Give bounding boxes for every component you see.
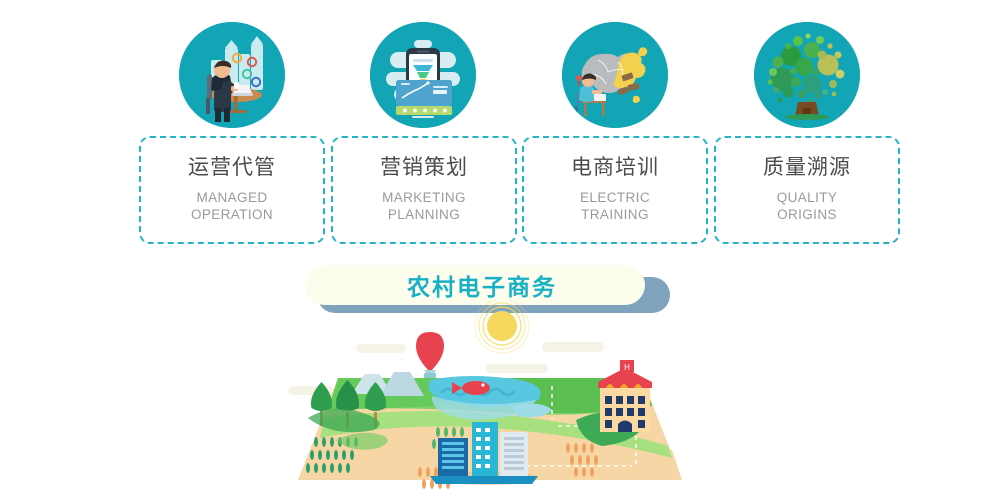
card-subtitle-line2: OPERATION xyxy=(191,206,273,223)
card-title-cn: 电商培训 xyxy=(571,157,659,178)
card-subtitle-en: ELECTRIC TRAINING xyxy=(580,189,650,223)
managed-operation-icon xyxy=(179,22,285,128)
card-subtitle-line1: MANAGED xyxy=(191,189,273,206)
marketing-planning-icon xyxy=(370,22,476,128)
card-subtitle-line2: TRAINING xyxy=(580,206,650,223)
banner-plate: 农村电子商务 xyxy=(305,265,645,305)
card-title-cn: 营销策划 xyxy=(380,157,468,178)
card-subtitle-en: MANAGED OPERATION xyxy=(191,189,273,223)
card-title-cn: 质量溯源 xyxy=(763,157,851,178)
card-subtitle-en: MARKETING PLANNING xyxy=(382,189,466,223)
sun-icon xyxy=(475,300,529,353)
tree-shapes xyxy=(308,380,386,432)
quality-origins-icon xyxy=(754,22,860,128)
card-electric-training[interactable]: 电商培训 ELECTRIC TRAINING xyxy=(522,136,708,244)
rural-landscape-illustration: H xyxy=(280,300,700,500)
card-title-cn: 运营代管 xyxy=(188,157,276,178)
card-subtitle-line2: ORIGINS xyxy=(777,206,838,223)
card-subtitle-line1: ELECTRIC xyxy=(580,189,650,206)
banner-title: 农村电子商务 xyxy=(393,268,557,302)
infographic-canvas: 运营代管 MANAGED OPERATION 营销策划 MARKETING PL… xyxy=(0,0,1000,500)
card-quality-origins[interactable]: 质量溯源 QUALITY ORIGINS xyxy=(714,136,900,244)
card-subtitle-en: QUALITY ORIGINS xyxy=(777,189,838,223)
card-subtitle-line1: MARKETING xyxy=(382,189,466,206)
card-managed-operation[interactable]: 运营代管 MANAGED OPERATION xyxy=(139,136,325,244)
mountain-shapes xyxy=(352,358,424,396)
hot-air-balloon-icon xyxy=(416,332,444,381)
svg-text:H: H xyxy=(624,363,630,372)
electric-training-icon xyxy=(562,22,668,128)
card-marketing-planning[interactable]: 营销策划 MARKETING PLANNING xyxy=(331,136,517,244)
card-subtitle-line1: QUALITY xyxy=(777,189,838,206)
card-subtitle-line2: PLANNING xyxy=(382,206,466,223)
